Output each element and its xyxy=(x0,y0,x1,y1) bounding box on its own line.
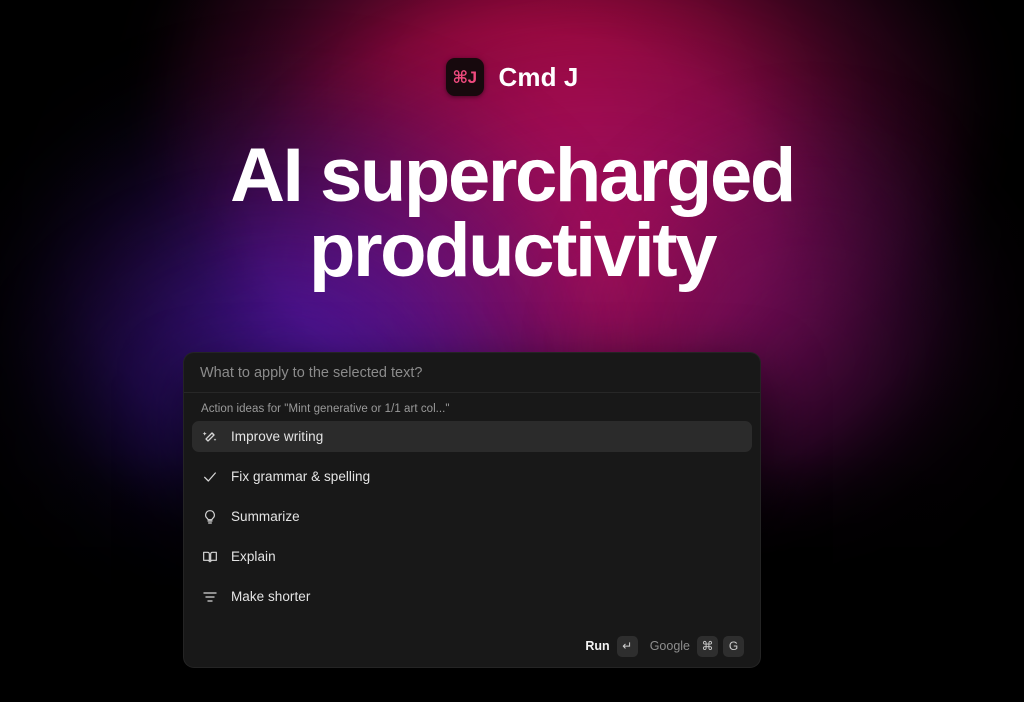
command-j-logo-icon: ⌘J xyxy=(446,58,484,96)
enter-key-icon: ↵ xyxy=(617,636,638,657)
action-item-improve-writing[interactable]: Improve writing xyxy=(192,421,752,452)
action-label: Improve writing xyxy=(231,429,323,444)
google-label: Google xyxy=(650,639,690,653)
action-label: Make shorter xyxy=(231,589,310,604)
command-palette-body: Action ideas for "Mint generative or 1/1… xyxy=(184,393,760,625)
check-icon xyxy=(201,468,218,485)
action-item-fix-grammar-spelling[interactable]: Fix grammar & spelling xyxy=(192,461,752,492)
google-button[interactable]: Google ⌘ G xyxy=(650,636,744,657)
headline-line-2: productivity xyxy=(309,208,715,293)
brand-name: Cmd J xyxy=(499,62,579,93)
align-shorten-icon xyxy=(201,588,218,605)
command-palette-footer: Run ↵ Google ⌘ G xyxy=(184,625,760,667)
search-input[interactable] xyxy=(200,365,744,381)
run-label: Run xyxy=(585,639,609,653)
action-item-make-shorter[interactable]: Make shorter xyxy=(192,581,752,612)
action-label: Explain xyxy=(231,549,276,564)
page-title: AI supercharged productivity xyxy=(192,138,832,288)
brand-lockup[interactable]: ⌘J Cmd J xyxy=(446,58,579,96)
command-key-icon: ⌘ xyxy=(697,636,718,657)
command-palette: Action ideas for "Mint generative or 1/1… xyxy=(183,352,761,668)
action-item-explain[interactable]: Explain xyxy=(192,541,752,572)
action-label: Summarize xyxy=(231,509,300,524)
g-key-icon: G xyxy=(723,636,744,657)
headline-line-1: AI supercharged xyxy=(230,133,794,218)
command-palette-input-row[interactable] xyxy=(184,353,760,393)
section-label: Action ideas for "Mint generative or 1/1… xyxy=(184,403,760,421)
action-list: Improve writing Fix grammar & spelling xyxy=(184,421,760,612)
lightbulb-icon xyxy=(201,508,218,525)
action-label: Fix grammar & spelling xyxy=(231,469,370,484)
google-shortcut-keys: ⌘ G xyxy=(697,636,744,657)
run-button[interactable]: Run ↵ xyxy=(585,636,637,657)
magic-wand-icon xyxy=(201,428,218,445)
open-book-icon xyxy=(201,548,218,565)
command-j-logo-glyph: ⌘J xyxy=(452,69,476,86)
action-item-summarize[interactable]: Summarize xyxy=(192,501,752,532)
